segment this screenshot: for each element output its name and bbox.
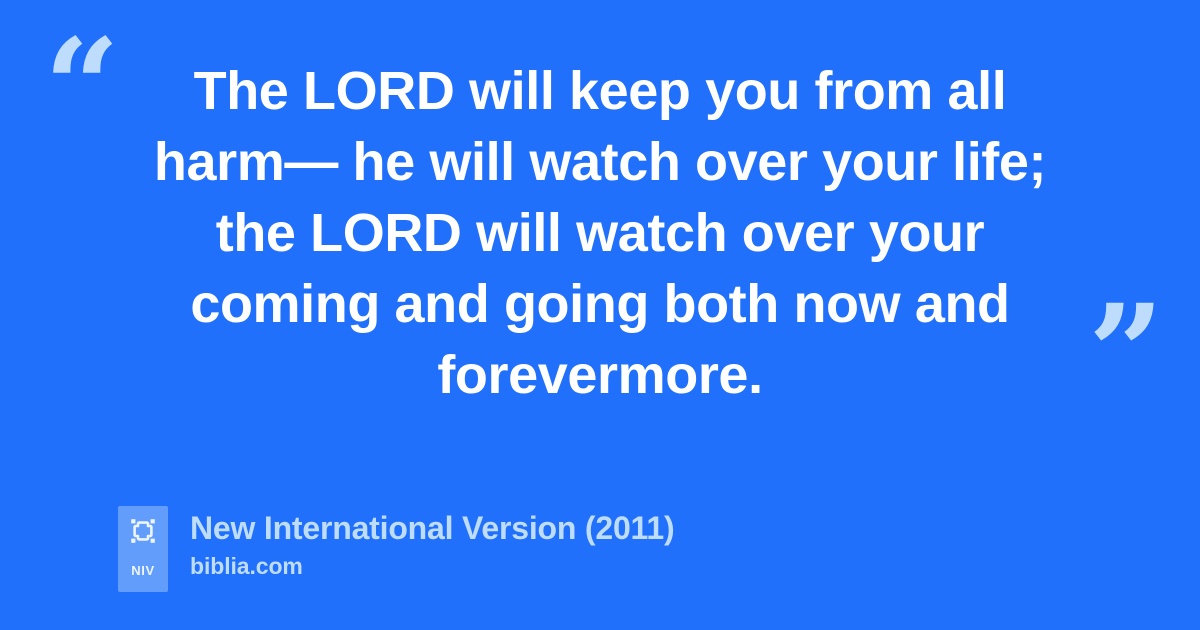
source-site-name: biblia.com (190, 553, 674, 580)
niv-badge-label: NIV (131, 564, 154, 577)
verse-text-block: The LORD will keep you from all harm— he… (100, 56, 1100, 411)
verse-line: The LORD will keep you from all (100, 56, 1100, 127)
attribution-text: New International Version (2011) biblia.… (190, 506, 674, 580)
closing-quotation-mark-icon: ” (1088, 288, 1162, 420)
verse-line: forevermore. (100, 340, 1100, 411)
verse-line: harm— he will watch over your life; (100, 127, 1100, 198)
crop-marks-cross-icon (129, 517, 157, 545)
attribution: NIV New International Version (2011) bib… (118, 506, 674, 592)
verse-line: coming and going both now and (100, 269, 1100, 340)
bible-version-name: New International Version (2011) (190, 509, 674, 547)
verse-quote-card: “ The LORD will keep you from all harm— … (0, 0, 1200, 630)
niv-version-badge: NIV (118, 506, 168, 592)
verse-line: the LORD will watch over your (100, 198, 1100, 269)
